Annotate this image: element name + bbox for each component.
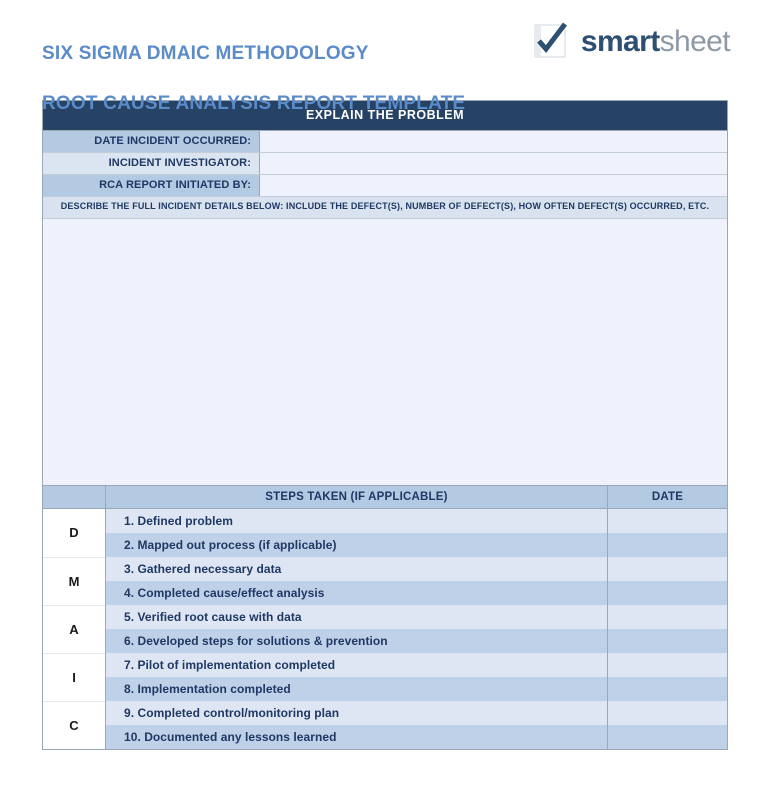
field-row-rca-report-initiated-by: RCA REPORT INITIATED BY:: [43, 175, 727, 197]
smartsheet-logo: smartsheet: [533, 16, 730, 61]
brand-word-sheet: sheet: [660, 25, 730, 58]
table-row: 6. Developed steps for solutions & preve…: [106, 629, 727, 653]
field-input-incident-investigator[interactable]: [260, 153, 727, 174]
field-input-date-incident-occurred[interactable]: [260, 131, 727, 152]
step-label-1: 1. Defined problem: [106, 509, 608, 533]
step-date-2[interactable]: [608, 533, 727, 557]
step-date-8[interactable]: [608, 677, 727, 701]
describe-incident-instructions: DESCRIBE THE FULL INCIDENT DETAILS BELOW…: [43, 197, 727, 219]
table-row: 5. Verified root cause with data: [106, 605, 727, 629]
dmaic-letter-i: I: [43, 653, 105, 701]
field-label-incident-investigator: INCIDENT INVESTIGATOR:: [43, 153, 260, 174]
table-row: 7. Pilot of implementation completed: [106, 653, 727, 677]
dmaic-letter-m: M: [43, 557, 105, 605]
dmaic-letter-c: C: [43, 701, 105, 749]
table-row: 4. Completed cause/effect analysis: [106, 581, 727, 605]
field-label-rca-report-initiated-by: RCA REPORT INITIATED BY:: [43, 175, 260, 196]
dmaic-letter-d: D: [43, 509, 105, 557]
step-label-10: 10. Documented any lessons learned: [106, 725, 608, 749]
page-title: SIX SIGMA DMAIC METHODOLOGY ROOT CAUSE A…: [42, 16, 465, 141]
steps-table-body: D M A I C 1. Defined problem 2. Mapped o…: [43, 509, 727, 749]
step-date-10[interactable]: [608, 725, 727, 749]
step-label-7: 7. Pilot of implementation completed: [106, 653, 608, 677]
field-label-date-incident-occurred: DATE INCIDENT OCCURRED:: [43, 131, 260, 152]
table-row: 3. Gathered necessary data: [106, 557, 727, 581]
steps-header-steps-taken: STEPS TAKEN (IF APPLICABLE): [106, 486, 608, 508]
step-label-9: 9. Completed control/monitoring plan: [106, 701, 608, 725]
table-row: 8. Implementation completed: [106, 677, 727, 701]
step-label-8: 8. Implementation completed: [106, 677, 608, 701]
step-label-5: 5. Verified root cause with data: [106, 605, 608, 629]
table-row: 1. Defined problem: [106, 509, 727, 533]
brand-word-smart: smart: [581, 25, 660, 58]
step-label-4: 4. Completed cause/effect analysis: [106, 581, 608, 605]
step-date-6[interactable]: [608, 629, 727, 653]
dmaic-letter-column: D M A I C: [43, 509, 106, 749]
dmaic-letter-a: A: [43, 605, 105, 653]
step-date-7[interactable]: [608, 653, 727, 677]
table-row: 2. Mapped out process (if applicable): [106, 533, 727, 557]
step-label-2: 2. Mapped out process (if applicable): [106, 533, 608, 557]
steps-table-header: STEPS TAKEN (IF APPLICABLE) DATE: [43, 486, 727, 509]
step-label-3: 3. Gathered necessary data: [106, 557, 608, 581]
table-row: 10. Documented any lessons learned: [106, 725, 727, 749]
field-row-incident-investigator: INCIDENT INVESTIGATOR:: [43, 153, 727, 175]
steps-header-date: DATE: [608, 486, 727, 508]
step-date-5[interactable]: [608, 605, 727, 629]
step-date-4[interactable]: [608, 581, 727, 605]
incident-details-textarea[interactable]: [43, 219, 727, 486]
page-title-line-1: SIX SIGMA DMAIC METHODOLOGY: [42, 41, 465, 66]
step-label-6: 6. Developed steps for solutions & preve…: [106, 629, 608, 653]
step-date-3[interactable]: [608, 557, 727, 581]
table-row: 9. Completed control/monitoring plan: [106, 701, 727, 725]
rca-report-sheet: EXPLAIN THE PROBLEM DATE INCIDENT OCCURR…: [42, 100, 728, 750]
checkmark-sheet-icon: [533, 22, 572, 61]
steps-rows-column: 1. Defined problem 2. Mapped out process…: [106, 509, 727, 749]
field-input-rca-report-initiated-by[interactable]: [260, 175, 727, 196]
step-date-9[interactable]: [608, 701, 727, 725]
step-date-1[interactable]: [608, 509, 727, 533]
steps-header-letter-column: [43, 486, 106, 508]
page-header: SIX SIGMA DMAIC METHODOLOGY ROOT CAUSE A…: [0, 0, 768, 100]
field-row-date-incident-occurred: DATE INCIDENT OCCURRED:: [43, 131, 727, 153]
smartsheet-wordmark: smartsheet: [581, 27, 730, 57]
